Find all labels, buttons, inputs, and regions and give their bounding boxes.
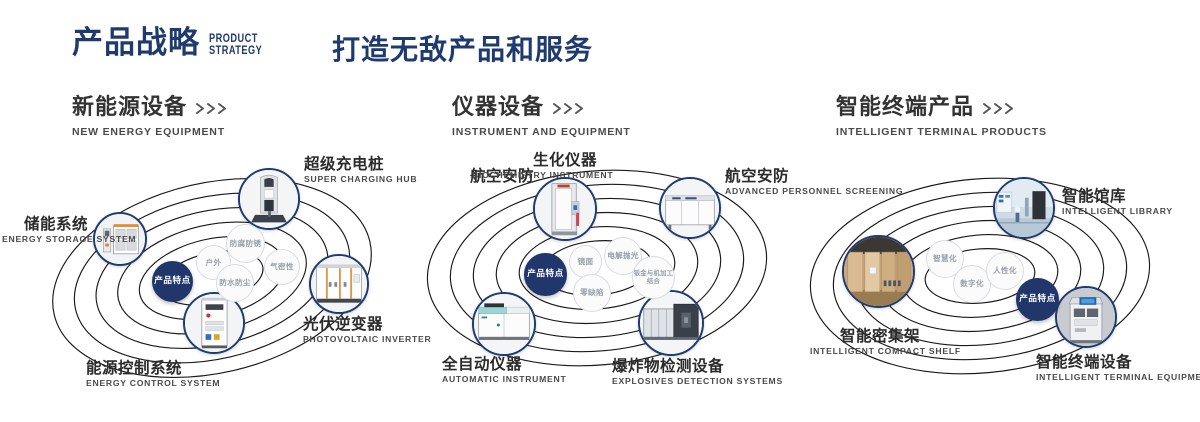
node-advanced-personnel-screening[interactable] (659, 177, 721, 239)
diagram-group-intelligent-terminal: 产品特点 智慧化 数字化 人性化 智能馆库 INTELLIGENT LIBRAR… (790, 150, 1190, 410)
kiosk-icon (1057, 288, 1115, 346)
node-intelligent-terminal-equipment[interactable] (1055, 286, 1117, 348)
section-heading-en: NEW ENERGY EQUIPMENT (72, 126, 227, 138)
feature-bubble: 零缺陷 (573, 274, 611, 312)
node-super-charging-hub[interactable] (238, 168, 300, 230)
page-title-cn: 产品战略 (72, 28, 200, 59)
node-label-intelligent-compact-shelf: 智能密集架 INTELLIGENT COMPACT SHELF (810, 328, 920, 357)
inverter-icon (311, 256, 367, 312)
node-automatic-instrument[interactable] (472, 292, 536, 356)
chevron-right-triple-icon (983, 103, 1014, 114)
node-label-explosives-detection-systems: 爆炸物检测设备 EXPLOSIVES DETECTION SYSTEMS (612, 358, 783, 387)
charger-icon (240, 170, 298, 228)
diagram-group-new-energy: 产品特点 户外 防腐防锈 气密性 防水防尘 储能系统 ENERGY STORAG… (0, 150, 400, 410)
chevron-right-triple-icon (553, 103, 584, 114)
section-heading-cn: 智能终端产品 (836, 96, 1047, 120)
diagram-group-instrument: 产品特点 镜面 电解抛光 钣金与机加工结合 零缺陷 航空安防 生化仪器 BIOC… (400, 150, 800, 410)
feature-bubble: 人性化 (986, 252, 1024, 290)
feature-bubble-core: 产品特点 (1016, 278, 1059, 321)
section-heading-intelligent: 智能终端产品 INTELLIGENT TERMINAL PRODUCTS (836, 96, 1047, 138)
node-biochemistry-instrument[interactable] (533, 177, 597, 241)
feature-bubble: 钣金与机加工结合 (632, 256, 675, 299)
control-cabinet-icon (185, 294, 243, 352)
node-label-energy-storage-system: 储能系统 ENERGY STORAGE SYSTEM (2, 216, 88, 245)
library-icon (995, 179, 1053, 237)
page-title-en-line1: PRODUCT (209, 33, 258, 45)
page-title-en: PRODUCT STRATEGY (209, 33, 262, 57)
section-heading-cn: 新能源设备 (72, 96, 227, 120)
node-photovoltaic-inverter[interactable] (309, 254, 369, 314)
section-heading-new-energy: 新能源设备 NEW ENERGY EQUIPMENT (72, 96, 227, 138)
page-title: 产品战略 PRODUCT STRATEGY (72, 28, 276, 59)
node-intelligent-library[interactable] (993, 177, 1055, 239)
node-explosives-detection-systems[interactable] (638, 290, 704, 356)
section-heading-cn: 仪器设备 (452, 96, 631, 120)
analyzer-icon (474, 294, 534, 354)
feature-bubble: 镜面 (569, 245, 602, 278)
feature-bubble: 防腐防锈 (226, 224, 265, 263)
scanner-icon (535, 179, 595, 239)
chevron-right-triple-icon (196, 103, 227, 114)
feature-bubble: 气密性 (264, 249, 300, 285)
screening-icon (661, 179, 719, 237)
page-slogan: 打造无敌产品和服务 (332, 36, 593, 64)
node-label-automatic-instrument: 全自动仪器 AUTOMATIC INSTRUMENT (442, 356, 566, 385)
node-intelligent-compact-shelf[interactable] (842, 235, 915, 308)
page-title-en-line2: STRATEGY (209, 45, 262, 57)
section-heading-instrument: 仪器设备 INSTRUMENT AND EQUIPMENT (452, 96, 631, 138)
node-label-intelligent-terminal-equipment: 智能终端设备 INTELLIGENT TERMINAL EQUIPMENT (1036, 354, 1200, 383)
node-label-biochemistry-instrument: 生化仪器 BIOCHEMISTRY INSTRUMENT (472, 152, 597, 181)
feature-bubble-core: 产品特点 (152, 261, 193, 302)
section-heading-en: INSTRUMENT AND EQUIPMENT (452, 126, 631, 138)
section-heading-en: INTELLIGENT TERMINAL PRODUCTS (836, 126, 1047, 138)
feature-bubble-core: 产品特点 (524, 253, 567, 296)
node-label-advanced-personnel-screening: 航空安防 ADVANCED PERSONNEL SCREENING (725, 168, 800, 197)
product-strategy-infographic: 产品战略 PRODUCT STRATEGY 打造无敌产品和服务 新能源设备 NE… (0, 0, 1200, 422)
feature-bubble: 防水防尘 (216, 264, 254, 302)
shelf-icon (844, 237, 913, 306)
node-label-energy-control-system: 能源控制系统 ENERGY CONTROL SYSTEM (86, 360, 220, 389)
node-label-intelligent-library: 智能馆库 INTELLIGENT LIBRARY (1062, 188, 1173, 217)
detector-icon (640, 292, 702, 354)
